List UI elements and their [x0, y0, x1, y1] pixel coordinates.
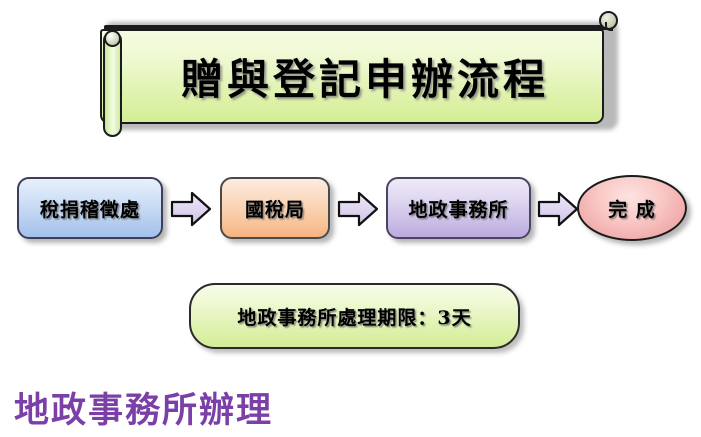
flow-node-tax-collection-office[interactable]: 稅捐稽徵處 — [17, 177, 163, 239]
flow-node-label: 稅捐稽徵處 — [40, 195, 140, 222]
flow-arrow-2 — [337, 190, 379, 228]
page-title: 贈與登記申辦流程 — [126, 29, 604, 124]
flow-node-land-office[interactable]: 地政事務所 — [386, 177, 531, 239]
flow-arrow-1 — [170, 190, 212, 228]
footer-heading: 地政事務所辦理 — [14, 382, 273, 433]
flow-node-label: 完 成 — [608, 195, 656, 222]
flow-node-label: 國稅局 — [245, 195, 305, 222]
scroll-curl-left-icon — [104, 30, 121, 47]
flow-node-label: 地政事務所 — [408, 195, 508, 222]
flow-node-national-taxation-bureau[interactable]: 國稅局 — [220, 177, 330, 239]
arrow-right-icon — [537, 190, 579, 228]
scroll-curl-right-icon — [599, 11, 618, 30]
diagram-canvas: 贈與登記申辦流程 稅捐稽徵處 國稅局 — [0, 0, 701, 437]
title-banner: 贈與登記申辦流程 — [100, 14, 618, 137]
arrow-right-icon — [170, 190, 212, 228]
note-text: 地政事務所處理期限：3天 — [237, 303, 471, 330]
arrow-right-icon — [337, 190, 379, 228]
processing-deadline-note: 地政事務所處理期限：3天 — [189, 283, 520, 349]
flow-arrow-3 — [537, 190, 579, 228]
flow-node-complete[interactable]: 完 成 — [577, 175, 687, 241]
